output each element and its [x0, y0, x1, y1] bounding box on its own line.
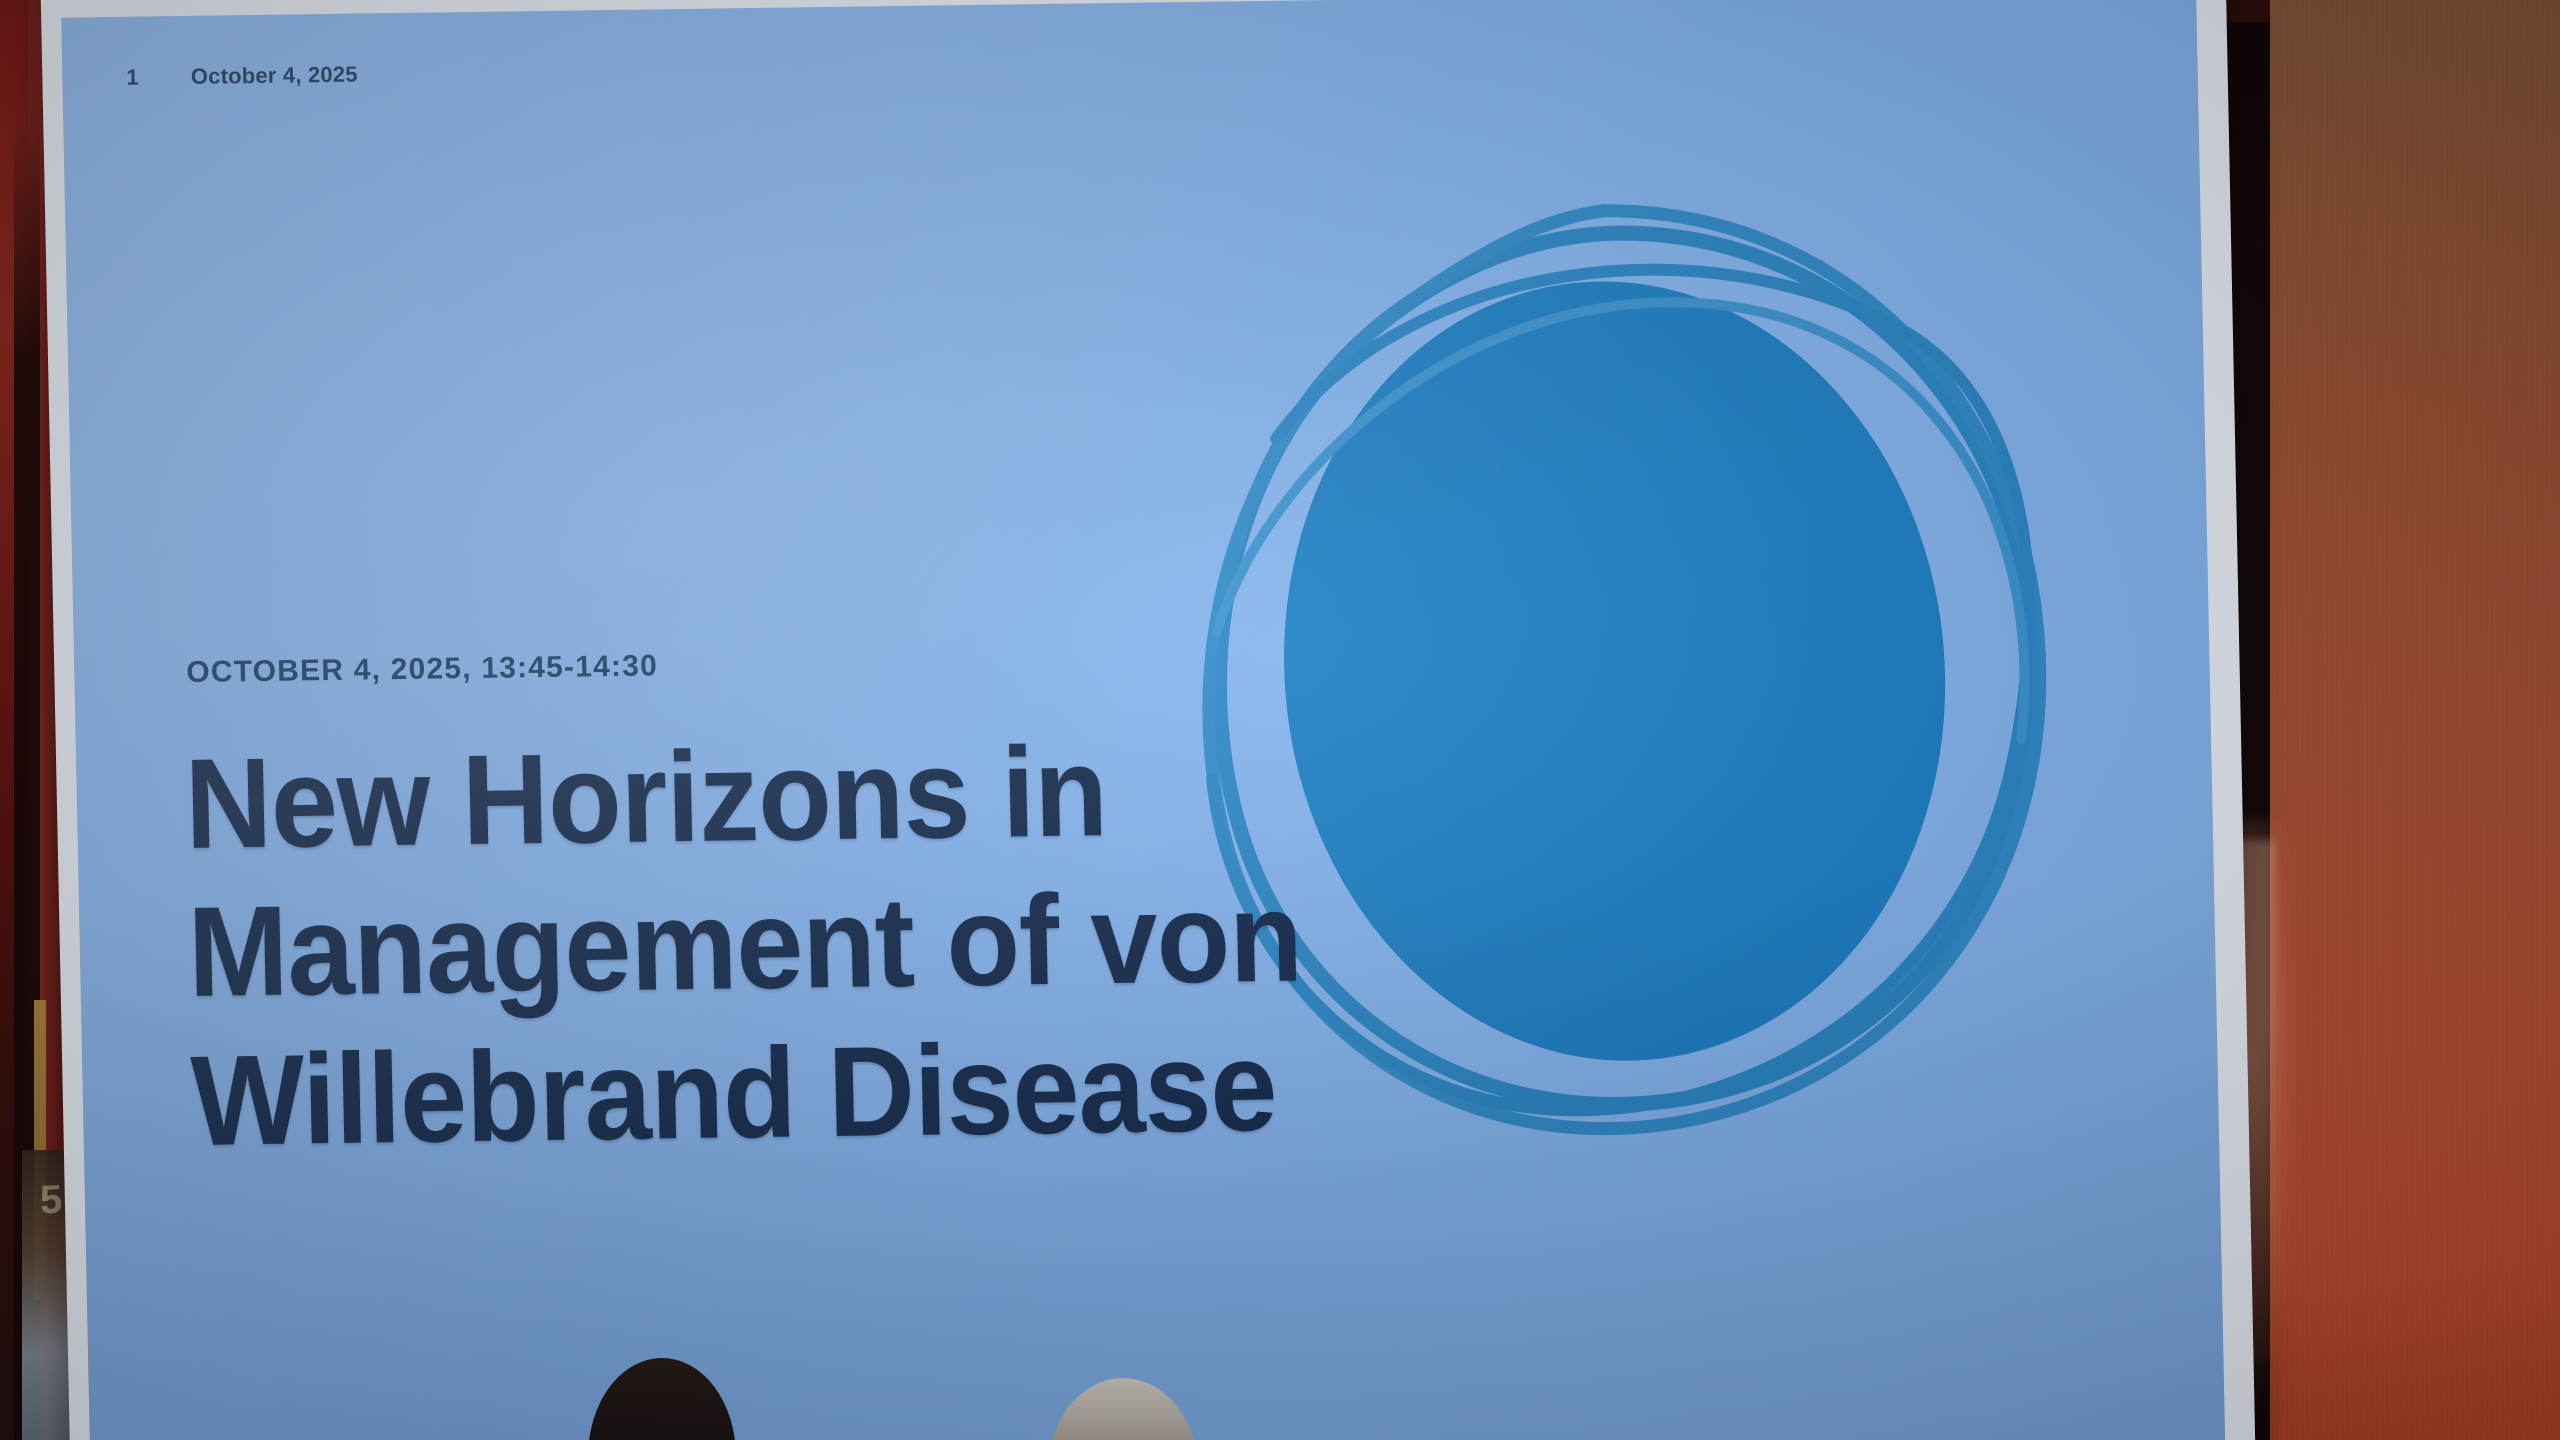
projection-screen: 1 October 4, 2025 OCTOBER 4, 2025, 13:45…: [40, 0, 2255, 1440]
title-line-1: New Horizons in: [184, 713, 1503, 880]
slide-title: New Horizons in Management of von Willeb…: [184, 712, 1593, 1177]
stage-wall-right: [2270, 0, 2560, 1440]
title-line-3: Willebrand Disease: [189, 1010, 1508, 1177]
title-line-2: Management of von: [186, 861, 1505, 1028]
stage-left-poster-text: 5: [39, 1178, 63, 1224]
slide-eyebrow-datetime: OCTOBER 4, 2025, 13:45-14:30: [186, 649, 658, 690]
stage-photo-scene: 5 1 October 4, 2025: [0, 0, 2560, 1440]
slide-header-date: October 4, 2025: [191, 62, 358, 90]
slide-number: 1: [126, 65, 139, 91]
slide-header: 1 October 4, 2025: [126, 62, 358, 91]
presentation-slide: 1 October 4, 2025 OCTOBER 4, 2025, 13:45…: [61, 0, 2225, 1440]
